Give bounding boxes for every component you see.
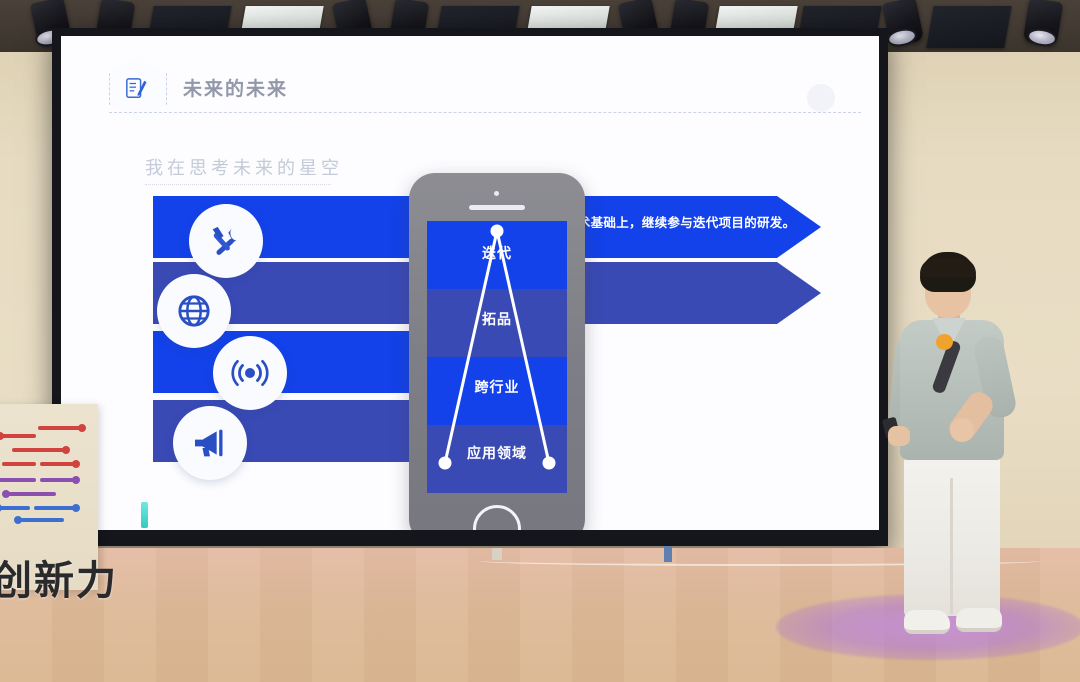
icon-bubble-megaphone: [173, 406, 247, 480]
megaphone-icon: [190, 423, 230, 463]
presenter-shoe: [956, 608, 1002, 632]
decorative-circle-icon: [807, 84, 835, 112]
floor-object: [664, 546, 672, 562]
presenter-shoe: [904, 610, 950, 634]
icon-bubble-globe: [157, 274, 231, 348]
tools-icon: [206, 221, 246, 261]
title-divider: [109, 112, 861, 113]
stage-scene: 未来的未来 我在思考未来的星空 在现有项目技术基础上，继续参与迭代项目的研发。: [0, 0, 1080, 682]
presenter-fringe: [920, 258, 976, 278]
globe-icon: [174, 291, 214, 331]
banner-text: 创新力: [0, 548, 118, 606]
phone-label: 迭代: [427, 243, 567, 263]
phone-speaker: [469, 205, 525, 210]
microphone-windscreen: [936, 334, 953, 350]
subtitle-divider: [145, 184, 331, 185]
phone-label: 应用领域: [427, 443, 567, 463]
light-panel: [926, 6, 1011, 48]
icon-bubble-broadcast: [213, 336, 287, 410]
phone-screen: 迭代 拓品 跨行业 应用领域: [427, 221, 567, 493]
phone-camera-icon: [494, 191, 499, 196]
trouser-seam: [950, 478, 953, 614]
teal-accent-icon: [141, 502, 148, 528]
slide-badge: [109, 58, 167, 120]
circuit-pattern-icon: [0, 410, 100, 528]
presentation-slide: 未来的未来 我在思考未来的星空 在现有项目技术基础上，继续参与迭代项目的研发。: [61, 36, 879, 530]
projection-screen: 未来的未来 我在思考未来的星空 在现有项目技术基础上，继续参与迭代项目的研发。: [52, 28, 888, 546]
slide-subtitle: 我在思考未来的星空: [145, 154, 343, 180]
broadcast-icon: [230, 353, 270, 393]
spotlight-icon: [1020, 0, 1066, 50]
presenter: [876, 252, 1046, 652]
icon-bubble-tools: [189, 204, 263, 278]
phone-label: 拓品: [427, 309, 567, 329]
phone-label: 跨行业: [427, 377, 567, 397]
document-pen-icon: [125, 76, 147, 102]
floor-object: [492, 548, 502, 560]
slide-title: 未来的未来: [183, 74, 288, 101]
presenter-hand-left: [888, 426, 910, 446]
smartphone-mockup: 迭代 拓品 跨行业 应用领域: [409, 173, 585, 530]
presenter-hand-right: [950, 418, 974, 442]
phone-home-button: [473, 505, 521, 530]
